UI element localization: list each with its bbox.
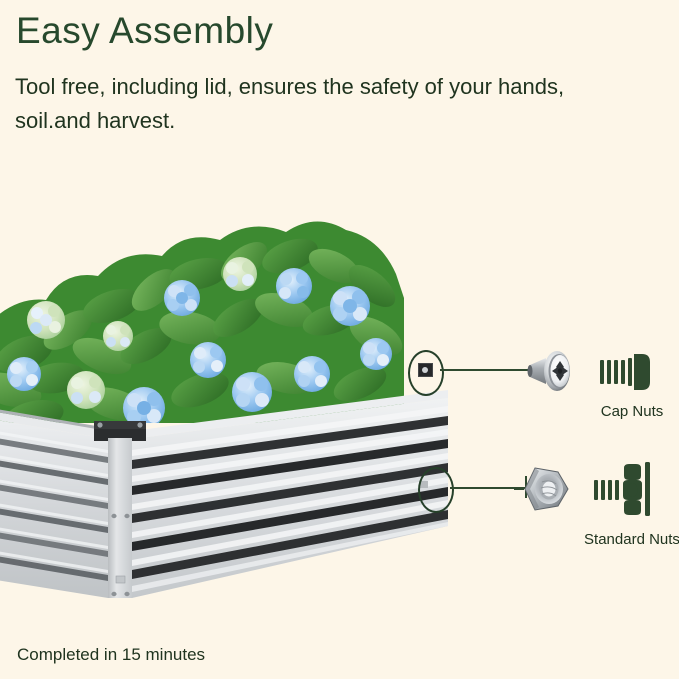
corner-bracket	[94, 421, 146, 441]
callout-marker-standard-nuts	[418, 467, 454, 513]
completion-note: Completed in 15 minutes	[17, 645, 205, 665]
standard-nuts-photo	[514, 462, 576, 516]
cap-nuts-label: Cap Nuts	[572, 403, 679, 420]
standard-nut-icon	[592, 462, 654, 516]
hydrangea-foliage	[0, 178, 404, 423]
planter-right-panel	[132, 390, 448, 598]
hex-nut-svg	[514, 462, 576, 516]
page-subtitle: Tool free, including lid, ensures the sa…	[15, 70, 635, 138]
planter-left-panel	[0, 409, 108, 598]
corner-post	[108, 431, 132, 598]
foliage-svg	[0, 178, 404, 423]
raised-garden-bed	[0, 398, 448, 603]
standard-nut-icon-svg	[592, 462, 654, 516]
callout-leader-cap-nuts	[440, 369, 528, 371]
cap-nut-icon-svg	[596, 348, 654, 396]
cap-nuts-photo	[524, 344, 584, 398]
standard-nuts-label: Standard Nuts	[562, 531, 679, 548]
planter-svg	[0, 398, 448, 603]
page-title: Easy Assembly	[16, 10, 273, 52]
screw-svg	[524, 344, 584, 398]
callout-marker-cap-nuts	[408, 350, 444, 396]
cap-nut-icon	[596, 348, 654, 396]
product-feature-image: Easy Assembly Tool free, including lid, …	[0, 0, 679, 679]
